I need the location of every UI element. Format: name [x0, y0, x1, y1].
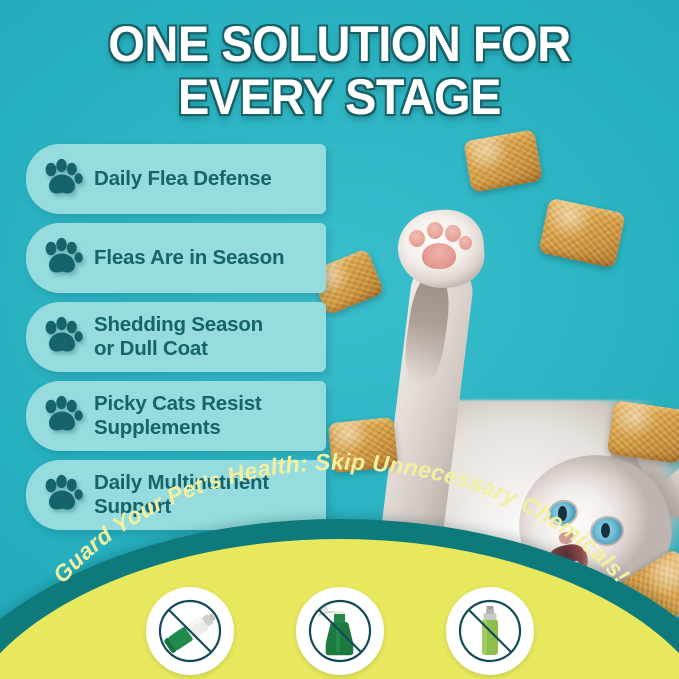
cat-paw-toe — [409, 230, 425, 247]
feature-pill-label: Daily MultinutrientSupport — [94, 471, 269, 519]
cat-pupil — [601, 523, 610, 538]
paw-print-icon — [40, 316, 84, 358]
no-aerosol-can-icon — [448, 589, 532, 673]
treat-kibble — [538, 198, 626, 269]
feature-pill-label: Picky Cats ResistSupplements — [94, 392, 262, 440]
treat-kibble — [328, 417, 399, 474]
product-infographic-poster: ONE SOLUTION FOR EVERY STAGE Daily Flea … — [0, 0, 679, 679]
treat-kibble — [607, 400, 679, 464]
feature-pill-shedding-season-or-dull-coat[interactable]: Shedding Seasonor Dull Coat — [26, 302, 326, 372]
badge-no-aerosol-can[interactable] — [446, 587, 534, 675]
cat-paw-toe — [459, 236, 472, 250]
no-spray-bottle-icon — [298, 589, 382, 673]
badge-no-spray-bottle[interactable] — [296, 587, 384, 675]
cat-pupil — [558, 506, 567, 521]
headline-line-2: EVERY STAGE — [20, 71, 658, 124]
feature-pill-daily-flea-defense[interactable]: Daily Flea Defense — [26, 144, 326, 214]
feature-pill-label: Shedding Seasonor Dull Coat — [94, 313, 263, 361]
treat-kibble — [463, 129, 543, 193]
feature-list: Daily Flea Defense Fleas Are in Season S… — [26, 144, 326, 539]
no-chemicals-badge-row — [0, 587, 679, 675]
feature-pill-fleas-are-in-season[interactable]: Fleas Are in Season — [26, 223, 326, 293]
no-topical-tube-icon — [148, 589, 232, 673]
feature-pill-daily-multinutrient-support[interactable]: Daily MultinutrientSupport — [26, 460, 326, 530]
feature-pill-label: Daily Flea Defense — [94, 167, 272, 191]
feature-pill-label: Fleas Are in Season — [94, 246, 284, 270]
cat-paw-pad — [422, 243, 456, 269]
paw-print-icon — [40, 395, 84, 437]
headline: ONE SOLUTION FOR EVERY STAGE — [20, 18, 658, 124]
cat-paw-toe — [427, 222, 443, 239]
paw-print-icon — [40, 237, 84, 279]
headline-line-1: ONE SOLUTION FOR — [20, 18, 658, 71]
badge-no-topical-tube[interactable] — [146, 587, 234, 675]
paw-print-icon — [40, 158, 84, 200]
paw-print-icon — [40, 474, 84, 516]
feature-pill-picky-cats-resist-supplements[interactable]: Picky Cats ResistSupplements — [26, 381, 326, 451]
